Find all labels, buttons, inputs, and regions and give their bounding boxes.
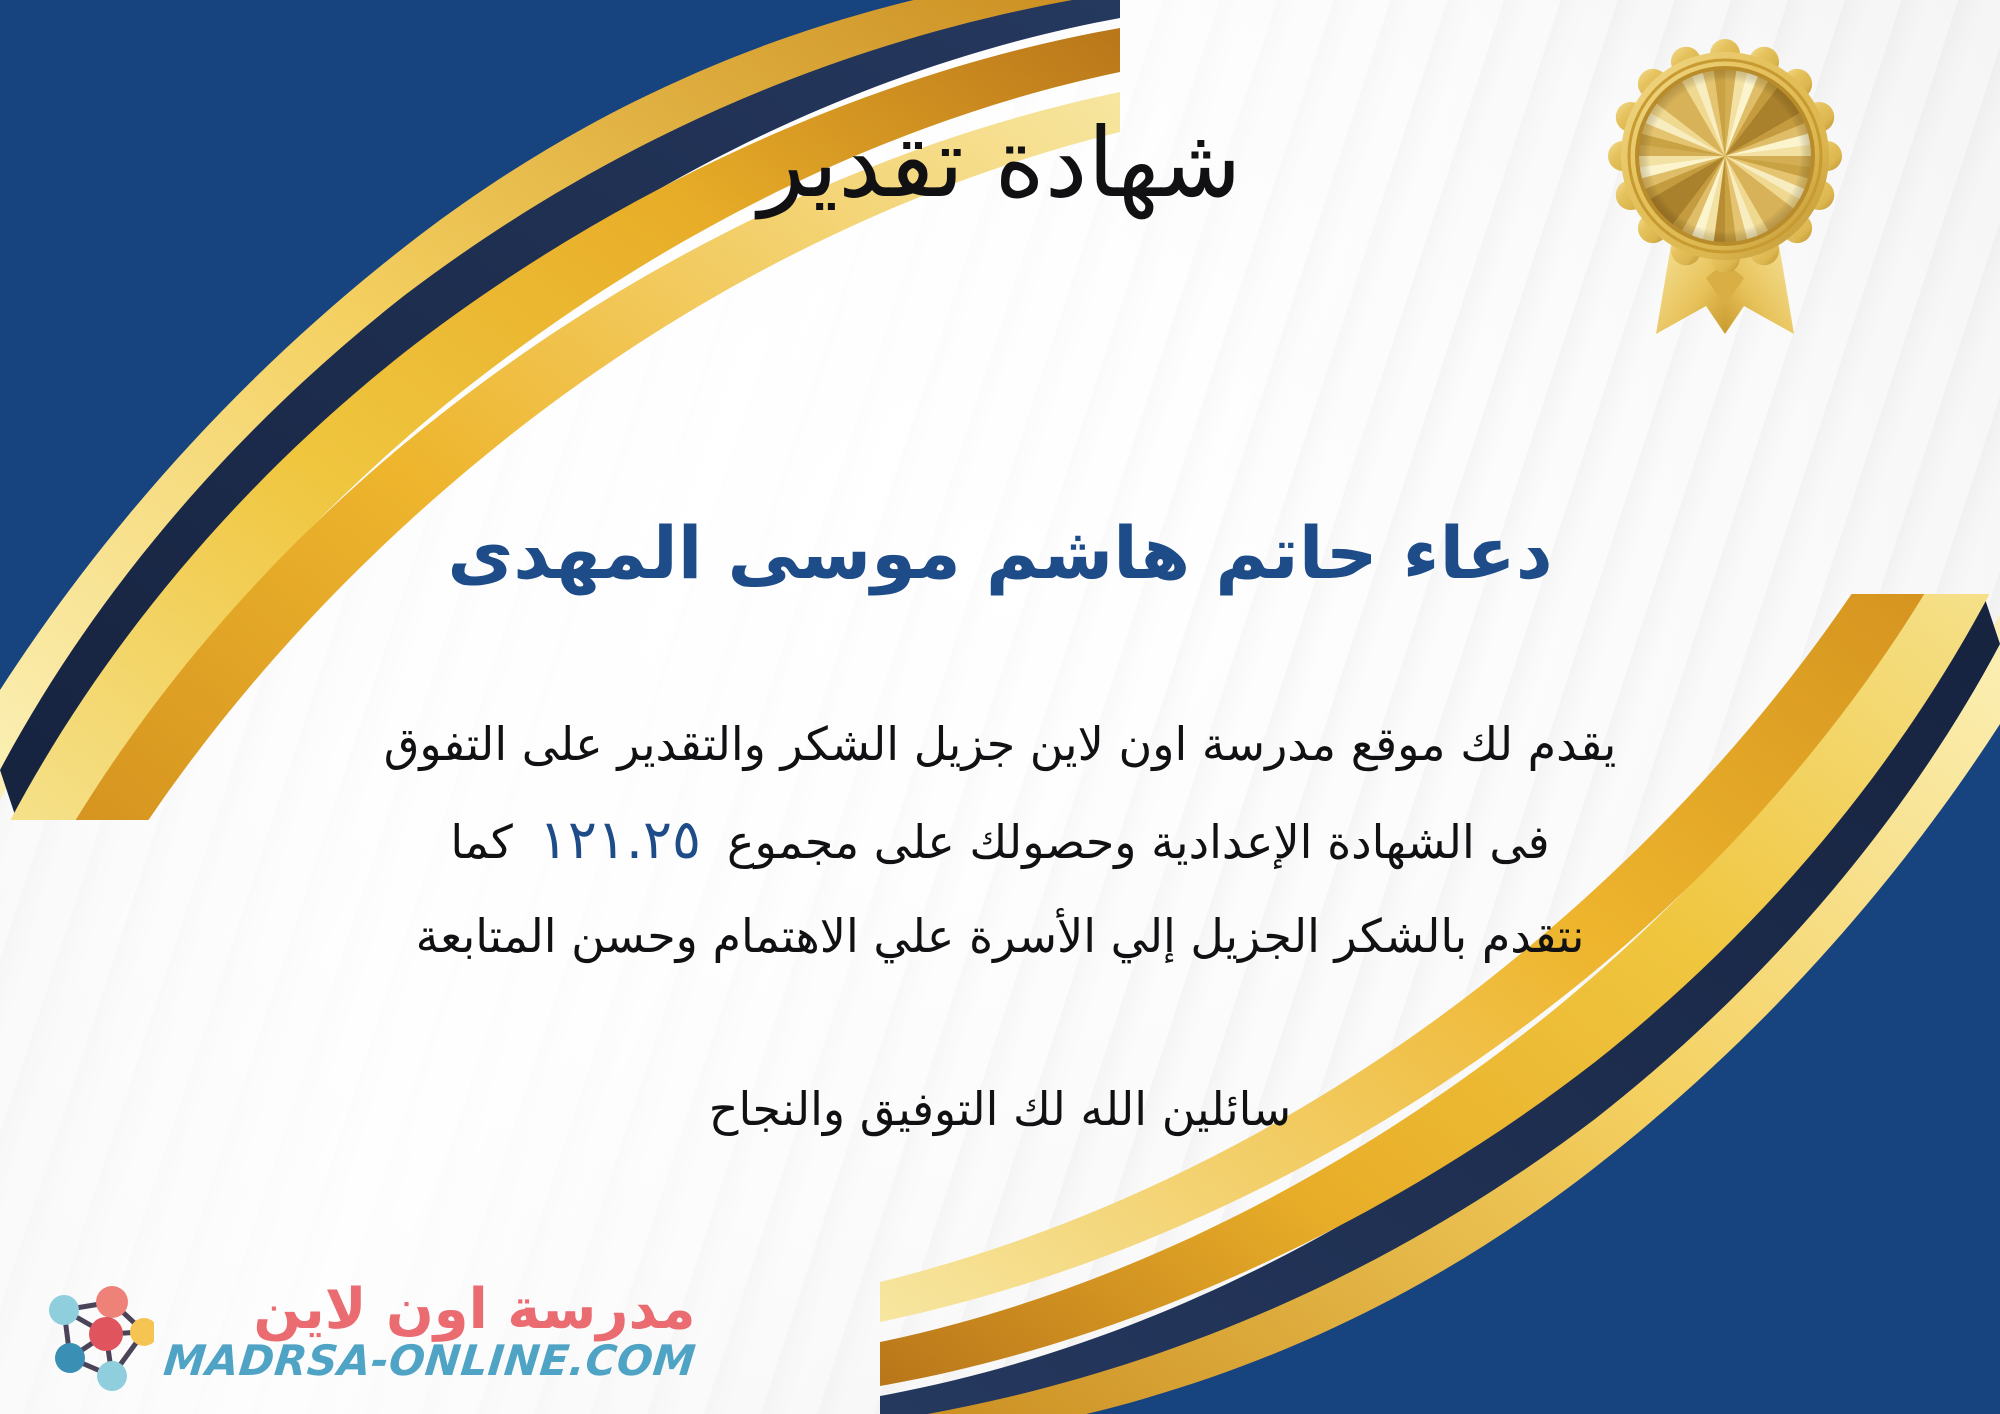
certificate-canvas: شهادة تقدير دعاء حاتم هاشم موسى المهدى ي… [0, 0, 2000, 1414]
certificate-content: شهادة تقدير دعاء حاتم هاشم موسى المهدى ي… [0, 0, 2000, 1414]
body-line-3: نتقدم بالشكر الجزيل إلي الأسرة علي الاهت… [110, 892, 1890, 980]
brand-wordmark: مدرسة اون لاين MADRSA-ONLINE.COM [164, 1281, 696, 1384]
recipient-name: دعاء حاتم هاشم موسى المهدى [0, 510, 2000, 596]
body-line-2-prefix: فى الشهادة الإعدادية وحصولك على مجموع [727, 815, 1550, 869]
body-line-1: يقدم لك موقع مدرسة اون لاين جزيل الشكر و… [110, 700, 1890, 788]
grade-total-value: ١٢١.٢٥ [513, 808, 727, 871]
brand-logo[interactable]: مدرسة اون لاين MADRSA-ONLINE.COM [34, 1272, 696, 1392]
certificate-title: شهادة تقدير [0, 108, 2000, 218]
closing-line: سائلين الله لك التوفيق والنجاح [0, 1082, 2000, 1136]
network-nodes-icon [34, 1272, 154, 1392]
certificate-body: يقدم لك موقع مدرسة اون لاين جزيل الشكر و… [110, 700, 1890, 980]
body-line-2: فى الشهادة الإعدادية وحصولك على مجموع١٢١… [110, 788, 1890, 892]
body-line-2-suffix: كما [450, 815, 513, 869]
brand-domain: MADRSA-ONLINE.COM [162, 1339, 698, 1383]
brand-arabic-name: مدرسة اون لاين [253, 1281, 695, 1340]
